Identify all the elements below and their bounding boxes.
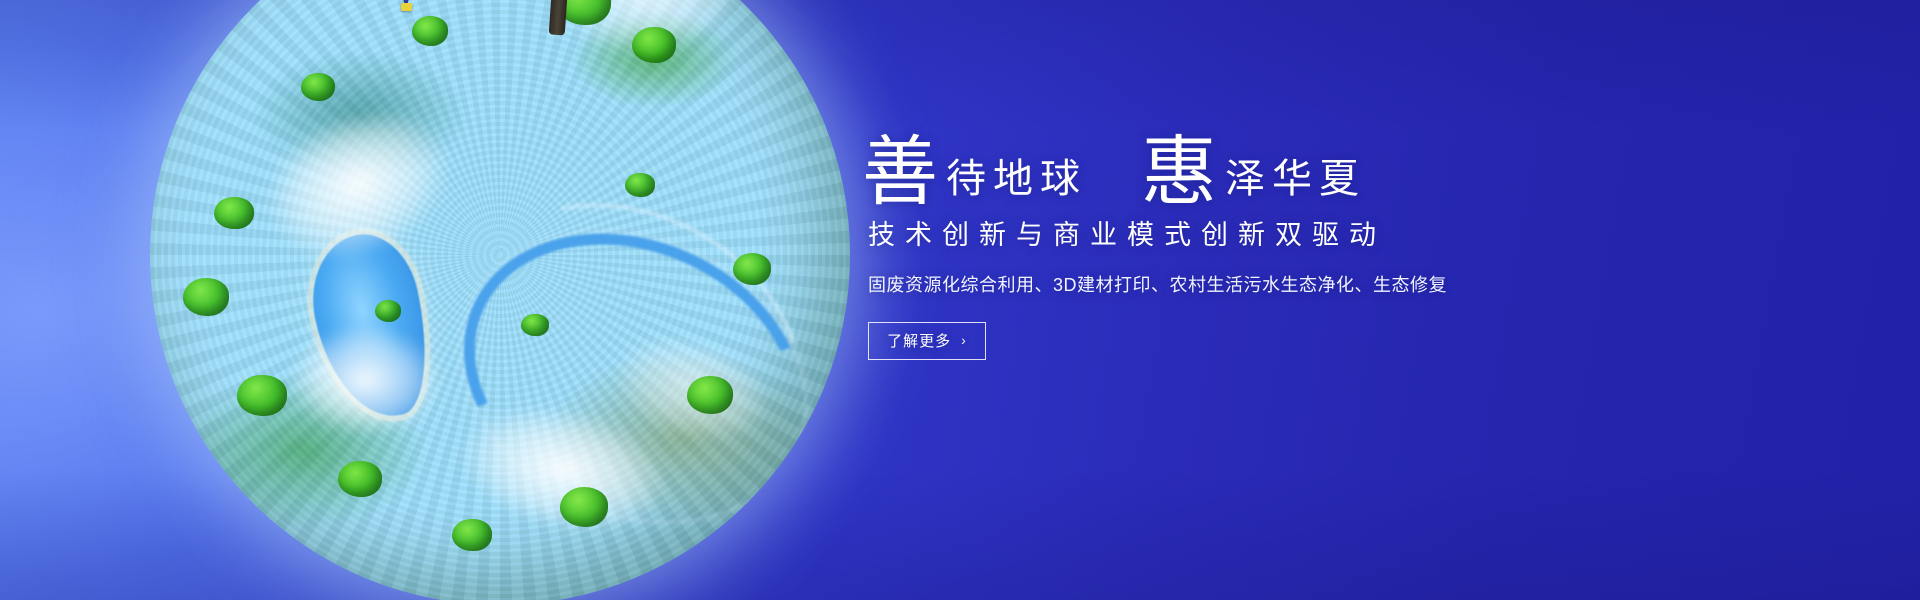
learn-more-button[interactable]: 了解更多 › xyxy=(868,322,986,360)
bush xyxy=(625,173,655,198)
bush xyxy=(237,375,287,416)
bush xyxy=(301,73,335,101)
learn-more-label: 了解更多 xyxy=(887,330,951,351)
bush xyxy=(412,16,448,46)
globe-illustration xyxy=(150,0,850,600)
hot-air-balloon-icon xyxy=(382,0,430,15)
headline-text-zehuaxia: 泽华夏 xyxy=(1225,159,1366,205)
headline-char-shan: 善 xyxy=(862,136,946,209)
hero-headline: 善 待地球 惠 泽华夏 xyxy=(862,132,1562,205)
bush xyxy=(214,197,254,230)
cloud-patch xyxy=(290,325,440,435)
headline-text-daidiqiu: 待地球 xyxy=(946,159,1087,205)
bush xyxy=(183,278,229,316)
birds-flock-icon xyxy=(750,0,890,1)
hero-banner: 善 待地球 惠 泽华夏 技术创新与商业模式创新双驱动 固废资源化综合利用、3D建… xyxy=(0,0,1920,600)
bush xyxy=(632,27,676,63)
chevron-right-icon: › xyxy=(961,332,967,348)
bush xyxy=(452,519,492,552)
balloon-basket xyxy=(401,3,412,11)
bush xyxy=(733,253,771,284)
bush xyxy=(687,376,733,414)
bush xyxy=(560,487,608,526)
bush xyxy=(338,461,382,497)
hero-description: 固废资源化综合利用、3D建材打印、农村生活污水生态净化、生态修复 xyxy=(868,273,1562,298)
hero-copy-block: 善 待地球 惠 泽华夏 技术创新与商业模式创新双驱动 固废资源化综合利用、3D建… xyxy=(862,132,1562,360)
bush xyxy=(521,314,549,337)
hero-subtitle: 技术创新与商业模式创新双驱动 xyxy=(868,219,1562,253)
headline-char-hui: 惠 xyxy=(1141,136,1225,209)
bush xyxy=(375,300,401,321)
